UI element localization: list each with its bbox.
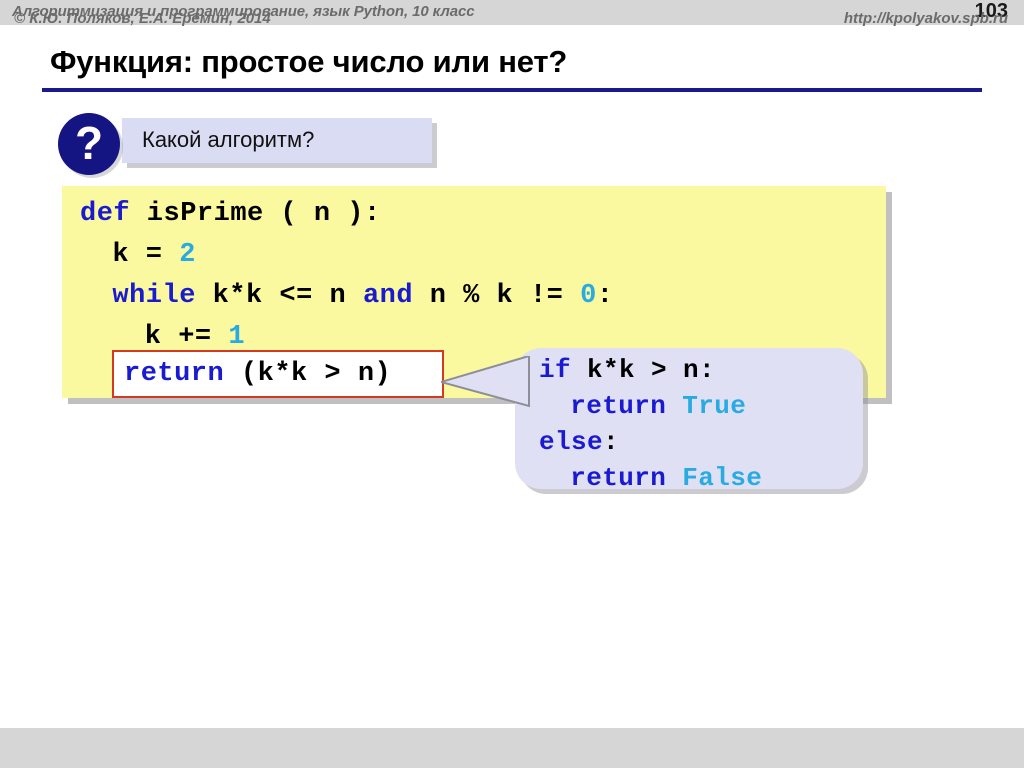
code-line: while k*k <= n and n % k != 0:	[80, 276, 613, 317]
explanation-bubble: if k*k > n:return Trueelse:return False	[515, 348, 863, 489]
highlighted-return-code: return (k*k > n)	[124, 354, 391, 395]
code-token: 0	[580, 281, 597, 311]
footer-copyright: © К.Ю. Поляков, Е.А. Ерёмин, 2014	[14, 10, 271, 27]
code-token: True	[682, 391, 746, 421]
code-token: 2	[179, 240, 196, 270]
code-token	[666, 463, 682, 493]
code-line: k = 2	[80, 235, 613, 276]
code-line: else:	[539, 424, 762, 460]
code-token: k*k <= n	[196, 281, 363, 311]
highlight-keyword: return	[124, 359, 224, 389]
footer-bar	[0, 728, 1024, 768]
footer-url[interactable]: http://kpolyakov.spb.ru	[844, 10, 1008, 27]
question-label: Какой алгоритм?	[142, 127, 314, 153]
code-line: return False	[539, 460, 762, 496]
code-token: if	[539, 355, 571, 385]
question-box: Какой алгоритм?	[122, 118, 432, 163]
bubble-tail-icon	[441, 356, 531, 408]
highlight-expression: (k*k > n)	[224, 359, 391, 389]
code-token: else	[539, 427, 603, 457]
code-line: if k*k > n:	[539, 352, 762, 388]
code-token: def	[80, 199, 130, 229]
code-token: k*k > n:	[571, 355, 715, 385]
code-token: 1	[228, 322, 245, 352]
code-token: :	[603, 427, 619, 457]
code-token: :	[597, 281, 614, 311]
highlighted-return-box: return (k*k > n)	[112, 350, 444, 398]
title-underline-rule	[42, 88, 982, 92]
code-token: False	[682, 463, 762, 493]
question-mark-icon: ?	[58, 113, 120, 175]
code-token	[666, 391, 682, 421]
code-token: k =	[112, 240, 179, 270]
code-token: n % k !=	[413, 281, 580, 311]
code-token: and	[363, 281, 413, 311]
page-title: Функция: простое число или нет?	[50, 44, 567, 80]
code-token: return	[570, 391, 666, 421]
code-token: isPrime ( n ):	[130, 199, 381, 229]
code-token: return	[570, 463, 666, 493]
code-token: k +=	[145, 322, 229, 352]
code-token: while	[112, 281, 196, 311]
code-line: return True	[539, 388, 762, 424]
code-listing: def isPrime ( n ):k = 2while k*k <= n an…	[80, 194, 613, 358]
code-line: def isPrime ( n ):	[80, 194, 613, 235]
bubble-code-listing: if k*k > n:return Trueelse:return False	[539, 352, 762, 496]
